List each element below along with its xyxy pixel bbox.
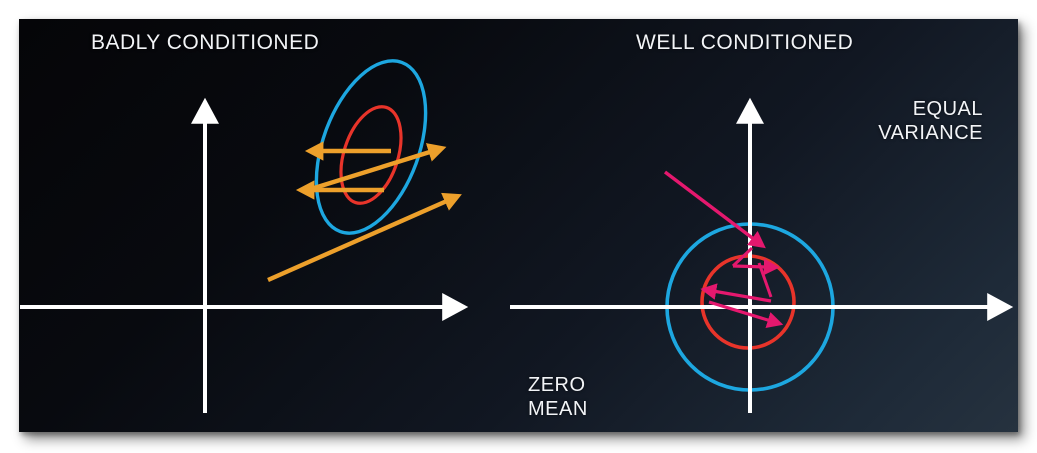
label-well-conditioned: WELL CONDITIONED bbox=[636, 31, 853, 56]
gradient-path-badly-conditioned bbox=[268, 151, 449, 280]
diagram-canvas bbox=[19, 19, 1018, 432]
slide-panel: BADLY CONDITIONED WELL CONDITIONED EQUAL… bbox=[19, 19, 1018, 432]
axes-badly-conditioned bbox=[20, 119, 447, 413]
panel-badly-conditioned bbox=[20, 46, 449, 413]
orange-step-1 bbox=[268, 200, 449, 280]
slide-stage: BADLY CONDITIONED WELL CONDITIONED EQUAL… bbox=[0, 0, 1037, 453]
gradient-path-well-conditioned bbox=[665, 172, 771, 321]
pink-step-1 bbox=[665, 172, 755, 240]
label-badly-conditioned: BADLY CONDITIONED bbox=[91, 31, 319, 56]
pink-step-5 bbox=[713, 291, 771, 301]
label-equal-variance: EQUAL VARIANCE bbox=[878, 98, 983, 145]
outer-ellipse-blue bbox=[295, 46, 447, 248]
pink-step-6 bbox=[709, 302, 771, 321]
label-zero-mean: ZERO MEAN bbox=[528, 374, 588, 421]
panel-well-conditioned bbox=[510, 119, 992, 413]
contours-badly-conditioned bbox=[295, 46, 447, 248]
